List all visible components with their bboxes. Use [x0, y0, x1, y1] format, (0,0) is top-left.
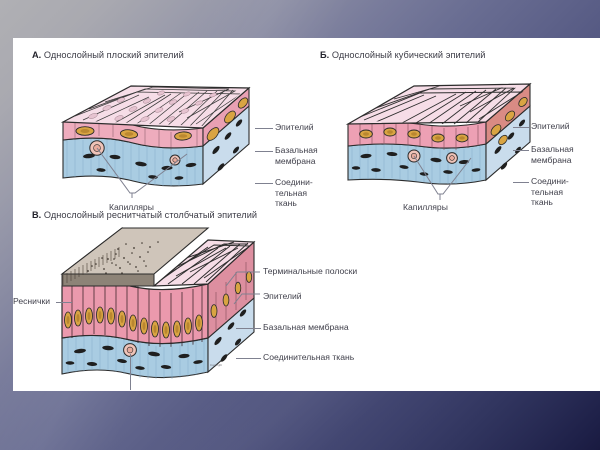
section-letter-a: А. — [32, 50, 41, 60]
leader-b-epithelium — [513, 127, 529, 128]
leader-a-capillaries — [83, 143, 193, 201]
leader-v-epithelium — [233, 290, 261, 306]
leader-a-epithelium — [255, 128, 273, 129]
section-heading-b: Б. Однослойный кубический эпителий — [320, 50, 485, 60]
label-b-capillaries: Капилляры — [403, 202, 448, 213]
leader-v-terminal-bars — [225, 266, 261, 288]
section-letter-b: Б. — [320, 50, 329, 60]
label-a-capillaries: Капилляры — [109, 202, 154, 213]
label-v-cilia: Реснички — [13, 296, 50, 307]
label-a-basal-membrane: Базальная мембрана — [275, 145, 318, 166]
label-a-epithelium: Эпителий — [275, 122, 314, 133]
label-a-connective-tissue: Соедини- тельная ткань — [275, 177, 313, 209]
diagram-v-illustration: Copyright — [58, 226, 273, 386]
leader-a-connective — [255, 183, 273, 184]
section-letter-v: В. — [32, 210, 41, 220]
leader-a-basal — [255, 151, 273, 152]
label-b-connective-tissue: Соедини- тельная ткань — [531, 176, 569, 208]
label-v-terminal-bars: Терминальные полоски — [263, 266, 357, 277]
leader-v-basal — [236, 328, 261, 329]
leader-b-basal — [513, 150, 529, 151]
section-heading-a: А. Однослойный плоский эпителий — [32, 50, 184, 60]
label-v-epithelium: Эпителий — [263, 291, 302, 302]
svg-text:Copyright: Copyright — [210, 363, 222, 367]
slide-canvas: А. Однослойный плоский эпителий Б. Однос… — [0, 0, 600, 450]
label-b-basal-membrane: Базальная мембрана — [531, 144, 574, 165]
section-title-b: Однослойный кубический эпителий — [332, 50, 486, 60]
section-title-a: Однослойный плоский эпителий — [44, 50, 184, 60]
leader-v-capillaries — [130, 354, 131, 390]
label-b-epithelium: Эпителий — [531, 121, 570, 132]
leader-v-cilia — [56, 302, 72, 303]
label-v-basal-membrane: Базальная мембрана — [263, 322, 349, 333]
content-card: А. Однослойный плоский эпителий Б. Однос… — [13, 38, 600, 391]
label-v-capillaries: Капилляры — [109, 390, 154, 391]
leader-v-connective — [236, 358, 261, 359]
leader-b-connective — [513, 182, 529, 183]
leader-b-capillaries — [398, 150, 478, 202]
label-v-connective-tissue: Соединительная ткань — [263, 352, 354, 363]
